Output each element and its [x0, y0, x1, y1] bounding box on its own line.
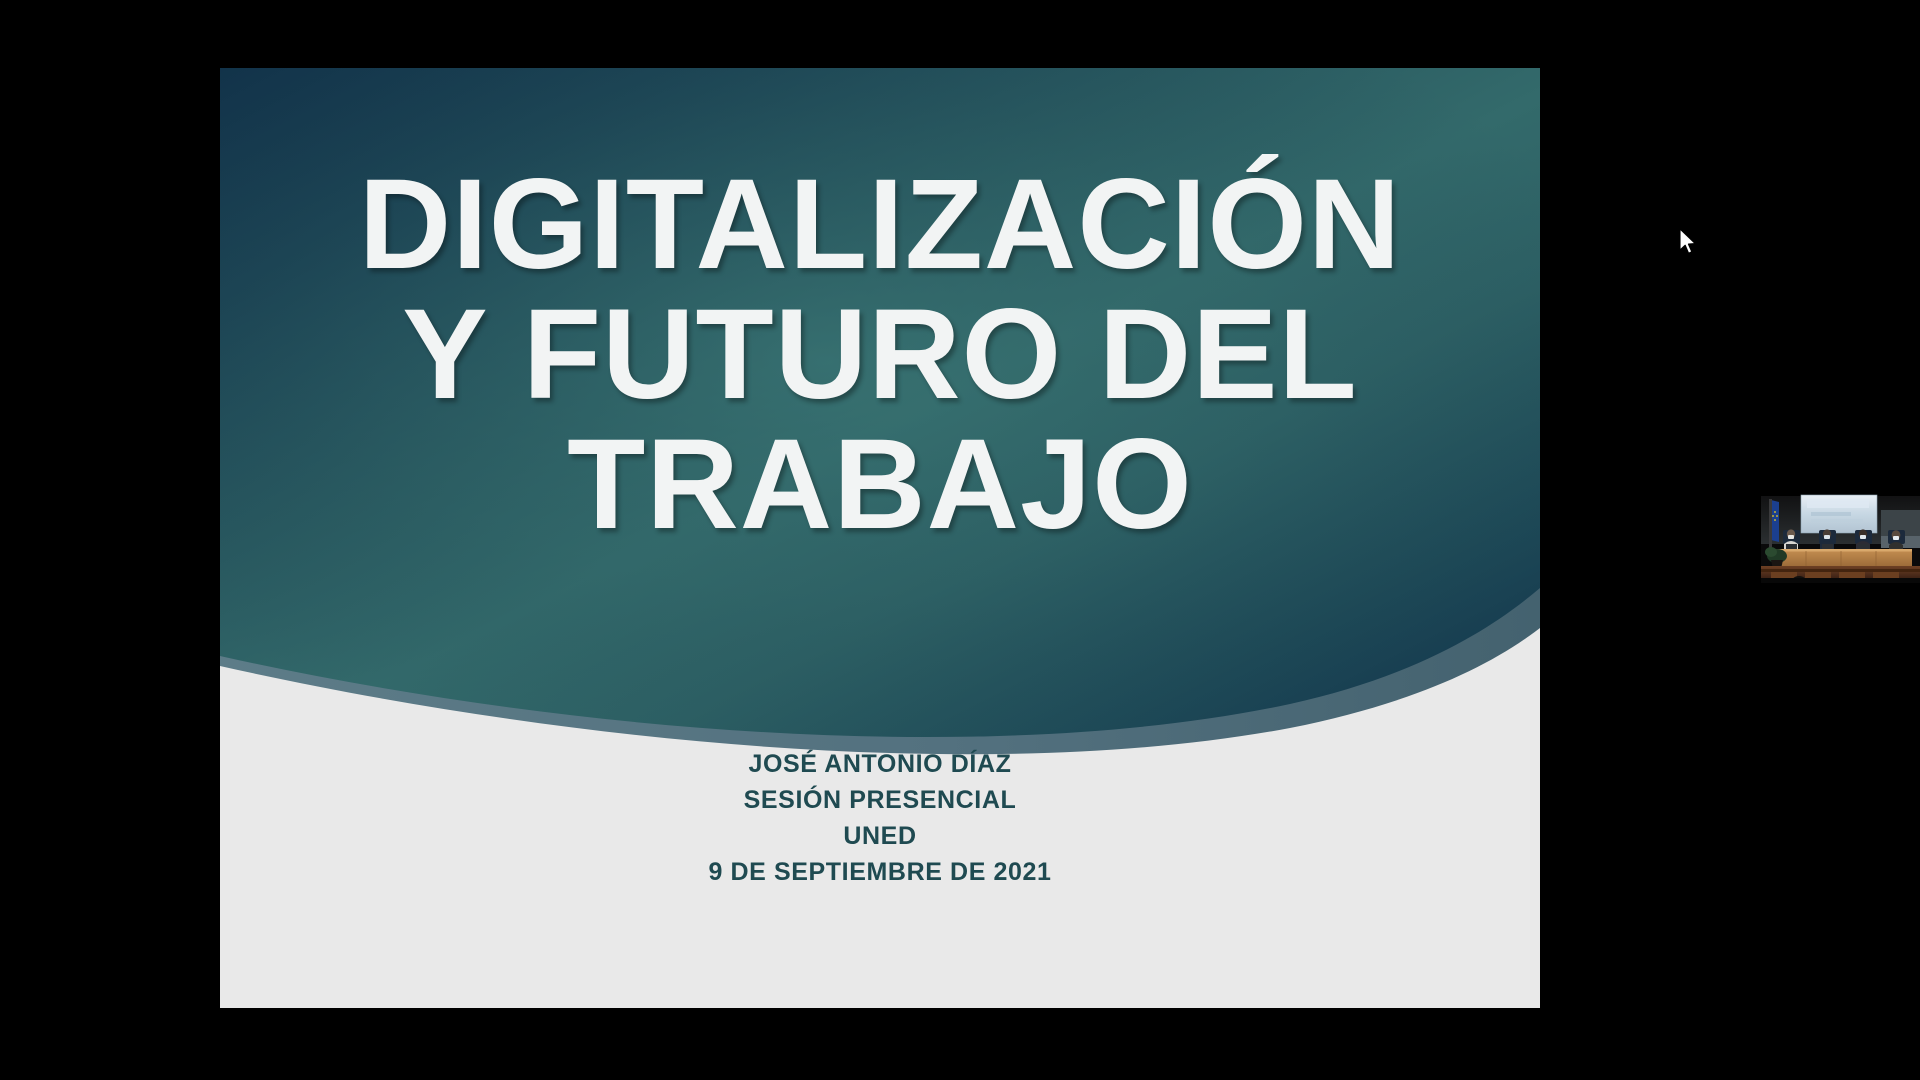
- subtitle-date: 9 DE SEPTIEMBRE DE 2021: [220, 854, 1540, 890]
- webcam-thumbnail[interactable]: [1761, 490, 1920, 583]
- presentation-screen: DIGITALIZACIÓN Y FUTURO DEL TRABAJO JOSÉ…: [0, 0, 1920, 1080]
- slide-canvas[interactable]: DIGITALIZACIÓN Y FUTURO DEL TRABAJO JOSÉ…: [220, 68, 1540, 1008]
- slide-subtitle: JOSÉ ANTONIO DÍAZ SESIÓN PRESENCIAL UNED…: [220, 746, 1540, 890]
- subtitle-session-type: SESIÓN PRESENCIAL: [220, 782, 1540, 818]
- subtitle-organization: UNED: [220, 818, 1540, 854]
- mouse-pointer-icon: [1678, 228, 1700, 258]
- subtitle-presenter-name: JOSÉ ANTONIO DÍAZ: [220, 746, 1540, 782]
